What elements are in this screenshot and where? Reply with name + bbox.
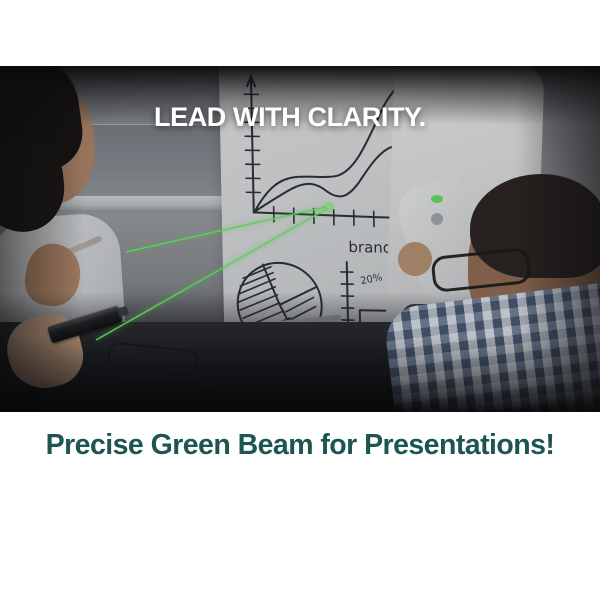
caption-bar: Precise Green Beam for Presentations! bbox=[0, 412, 600, 478]
whiteboard-axis-label: brand bbox=[348, 238, 392, 257]
page-root: brand 20% bbox=[0, 0, 600, 600]
hero-photo: brand 20% bbox=[0, 66, 600, 412]
caption-text: Precise Green Beam for Presentations! bbox=[46, 429, 555, 462]
whiteboard-bar-label: 20% bbox=[359, 272, 383, 287]
hero-headline: LEAD WITH CLARITY. bbox=[154, 102, 426, 133]
